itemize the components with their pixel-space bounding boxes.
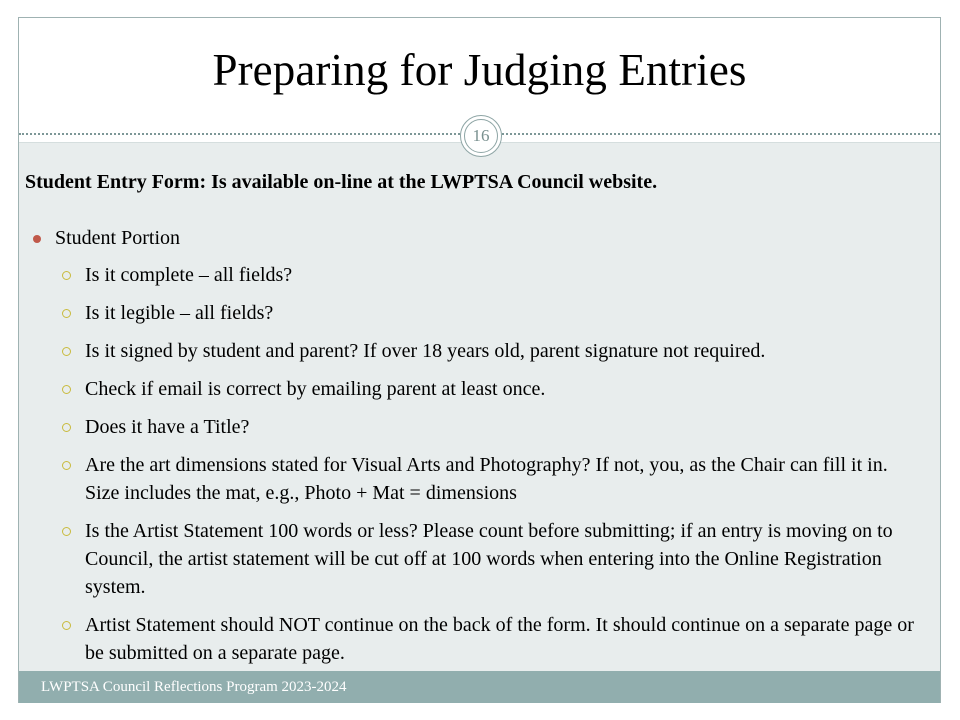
bullet-circle-icon xyxy=(62,309,71,318)
bullet-circle-icon xyxy=(62,271,71,280)
list-item: Are the art dimensions stated for Visual… xyxy=(19,451,940,507)
page-title: Preparing for Judging Entries xyxy=(19,43,940,97)
footer-label: LWPTSA Council Reflections Program 2023-… xyxy=(41,671,347,703)
page-number-value: 16 xyxy=(473,127,490,145)
list-item: Is the Artist Statement 100 words or les… xyxy=(19,517,940,601)
list-item-label: Student Portion xyxy=(55,227,180,249)
bullet-circle-icon xyxy=(62,423,71,432)
bullet-circle-icon xyxy=(62,385,71,394)
page-number-badge-inner-ring: 16 xyxy=(464,119,498,153)
list-item-label: Is it legible – all fields? xyxy=(85,302,273,324)
slide-content-panel: Student Entry Form: Is available on-line… xyxy=(19,143,940,702)
list-item: Is it complete – all fields? xyxy=(19,261,940,289)
bullet-circle-icon xyxy=(62,621,71,630)
page-number-badge: 16 xyxy=(460,115,502,157)
list-item-label: Is the Artist Statement 100 words or les… xyxy=(85,520,893,598)
list-item-label: Does it have a Title? xyxy=(85,416,249,438)
list-item-label: Check if email is correct by emailing pa… xyxy=(85,378,545,400)
presentation-slide: Preparing for Judging Entries 16 Student… xyxy=(18,17,941,703)
slide-footer-bar: LWPTSA Council Reflections Program 2023-… xyxy=(19,671,940,703)
list-item: Student Portion xyxy=(19,225,940,251)
list-item-label: Is it complete – all fields? xyxy=(85,264,292,286)
bullet-dot-icon xyxy=(33,235,41,243)
list-item: Artist Statement should NOT continue on … xyxy=(19,611,940,667)
list-item-label: Is it signed by student and parent? If o… xyxy=(85,340,765,362)
bullet-circle-icon xyxy=(62,461,71,470)
list-item: Is it signed by student and parent? If o… xyxy=(19,337,940,365)
list-item: Is it legible – all fields? xyxy=(19,299,940,327)
list-item-label: Are the art dimensions stated for Visual… xyxy=(85,454,888,504)
list-item: Check if email is correct by emailing pa… xyxy=(19,375,940,403)
bullet-list: Student Portion Is it complete – all fie… xyxy=(19,225,940,677)
list-item: Does it have a Title? xyxy=(19,413,940,441)
bullet-circle-icon xyxy=(62,347,71,356)
list-item-label: Artist Statement should NOT continue on … xyxy=(85,614,914,664)
bullet-circle-icon xyxy=(62,527,71,536)
lead-statement: Student Entry Form: Is available on-line… xyxy=(25,169,925,195)
